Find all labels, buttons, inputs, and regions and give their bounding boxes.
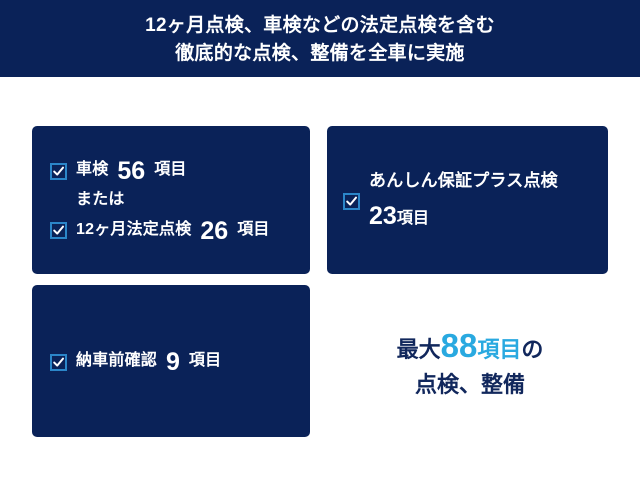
inspection-12month-label: 12ヶ月法定点検	[76, 221, 191, 239]
header-title-line-1: 12ヶ月点検、車検などの法定点検を含む	[145, 12, 495, 40]
card-warranty-content: あんしん保証プラス点検 23項目	[327, 126, 608, 274]
warranty-suffix: 項目	[397, 210, 429, 227]
card-predelivery: 納車前確認 9 項目	[32, 285, 310, 437]
inspection-line-12month: 12ヶ月法定点検 26 項目	[50, 216, 270, 244]
card-inspection-content: 車検 56 項目 または 12ヶ月法定点検 26 項目	[32, 126, 310, 274]
summary-unit: 項目	[477, 337, 521, 362]
inspection-12month-number: 26	[200, 217, 228, 245]
card-warranty: あんしん保証プラス点検 23項目	[327, 126, 608, 274]
header-title-line-2: 徹底的な点検、整備を全車に実施	[175, 40, 465, 68]
inspection-shaken-label: 車検	[76, 161, 108, 179]
predelivery-number: 9	[166, 348, 180, 376]
warranty-count-row: 23項目	[369, 201, 558, 229]
inspection-shaken-number: 56	[117, 157, 145, 185]
predelivery-suffix: 項目	[189, 352, 221, 370]
summary-prefix: 最大	[397, 337, 441, 362]
warranty-text-block: あんしん保証プラス点検 23項目	[369, 171, 558, 229]
checkbox-checked-icon	[50, 222, 67, 239]
summary-particle: の	[521, 337, 543, 362]
card-inspection: 車検 56 項目 または 12ヶ月法定点検 26 項目	[32, 126, 310, 274]
summary-line-1: 最大88項目の	[330, 325, 610, 366]
summary-total-number: 88	[441, 327, 478, 364]
inspection-shaken-suffix: 項目	[154, 161, 186, 179]
inspection-12month-suffix: 項目	[237, 221, 269, 239]
summary-line-2: 点検、整備	[330, 371, 610, 399]
card-predelivery-content: 納車前確認 9 項目	[32, 285, 310, 437]
summary-total-block: 最大88項目の 点検、整備	[330, 325, 610, 399]
inspection-summary-page: 12ヶ月点検、車検などの法定点検を含む 徹底的な点検、整備を全車に実施 車検 5…	[0, 0, 640, 480]
header-banner: 12ヶ月点検、車検などの法定点検を含む 徹底的な点検、整備を全車に実施	[0, 0, 640, 77]
warranty-title: あんしん保証プラス点検	[369, 171, 558, 190]
inspection-line-shaken: 車検 56 項目	[50, 156, 187, 184]
warranty-number: 23	[369, 202, 397, 230]
checkbox-checked-icon	[343, 193, 360, 210]
checkbox-checked-icon	[50, 163, 67, 180]
inspection-line-or: または	[50, 191, 125, 209]
checkbox-checked-icon	[50, 354, 67, 371]
predelivery-line: 納車前確認 9 項目	[50, 347, 221, 375]
predelivery-label: 納車前確認	[76, 352, 157, 370]
inspection-or-text: または	[76, 191, 125, 209]
